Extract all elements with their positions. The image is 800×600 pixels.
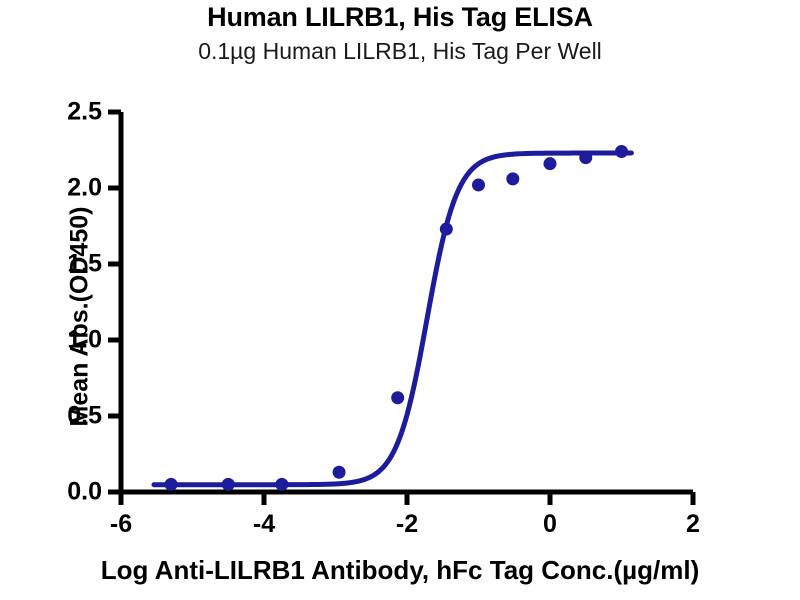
y-tick-label: 2.5: [40, 98, 102, 127]
x-tick-label: -2: [396, 510, 418, 539]
axis-lines: [121, 112, 693, 492]
data-point-group: [165, 145, 628, 491]
data-point: [275, 478, 288, 491]
data-point: [615, 145, 628, 158]
x-tick-label: -6: [110, 510, 132, 539]
data-point: [544, 157, 557, 170]
data-point: [579, 151, 592, 164]
y-tick-label: 0.0: [40, 478, 102, 507]
y-tick-label: 1.5: [40, 250, 102, 279]
data-point: [333, 466, 346, 479]
data-point: [222, 478, 235, 491]
x-tick-label: 0: [543, 510, 557, 539]
data-point: [440, 223, 453, 236]
data-point: [165, 478, 178, 491]
sigmoid-fit-curve: [154, 153, 631, 485]
y-tick-label: 1.0: [40, 326, 102, 355]
x-tick-label: -4: [253, 510, 275, 539]
data-point: [506, 172, 519, 185]
y-tick-label: 0.5: [40, 402, 102, 431]
y-tick-label: 2.0: [40, 174, 102, 203]
x-tick-label: 2: [686, 510, 700, 539]
elisa-chart-figure: Human LILRB1, His Tag ELISA 0.1µg Human …: [0, 0, 800, 600]
data-point: [472, 178, 485, 191]
data-point: [391, 391, 404, 404]
